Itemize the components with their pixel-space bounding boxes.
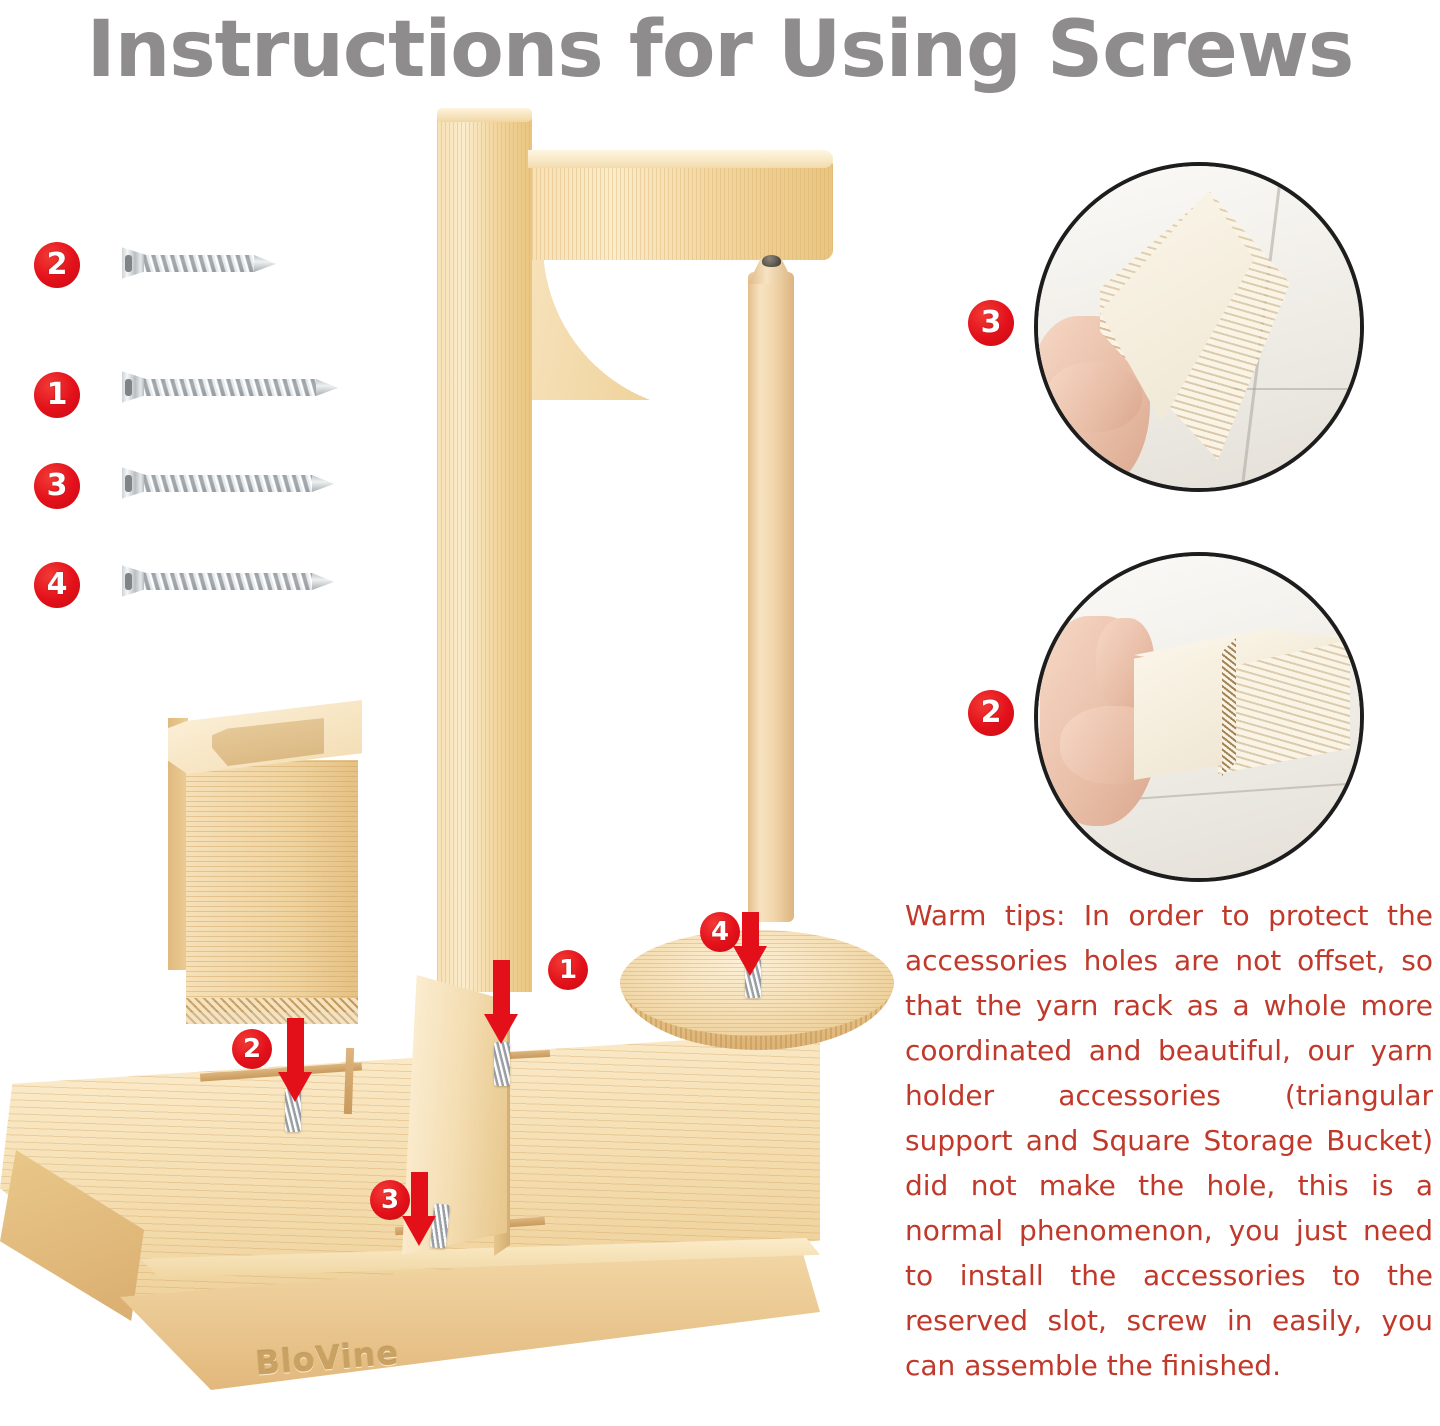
detail-badge-3: 3 [968, 300, 1014, 346]
screw-shank [144, 379, 316, 396]
instruction-sheet: Instructions for Using Screws 2 1 3 4 [0, 0, 1440, 1426]
screw-tip [254, 255, 276, 272]
marker-badge-4: 4 [700, 912, 740, 952]
screw-tip [312, 475, 334, 492]
curved-arm [528, 156, 833, 260]
square-storage-bucket-photo [1034, 552, 1364, 882]
square-storage-bucket [186, 760, 358, 1012]
screw-shank [144, 255, 254, 272]
screw-badge-3: 3 [34, 463, 80, 509]
screw-shank [144, 475, 312, 492]
post-top-face [437, 108, 532, 122]
screw-head [122, 370, 146, 404]
page-title: Instructions for Using Screws [0, 2, 1440, 98]
screw-icon-2 [122, 246, 276, 280]
arrow-stem [411, 1172, 428, 1220]
arrow-stem [493, 960, 510, 1018]
vertical-post [437, 112, 532, 992]
screw-tip [316, 379, 338, 396]
detail-badge-2: 2 [968, 690, 1014, 736]
post-screw [494, 1042, 510, 1086]
marker-badge-3: 3 [370, 1180, 410, 1220]
arrow-stem [742, 912, 759, 950]
arm-curved-brace [528, 240, 708, 400]
bucket-bottom-edge [186, 998, 358, 1024]
marker-badge-2: 2 [232, 1029, 272, 1069]
screw-head [122, 246, 146, 280]
screw-badge-1: 1 [34, 372, 80, 418]
screw-head [122, 564, 146, 598]
warm-tips-text: Warm tips: In order to protect the acces… [905, 893, 1433, 1388]
screw-icon-3 [122, 466, 334, 500]
screw-shank [144, 573, 312, 590]
screw-badge-4: 4 [34, 562, 80, 608]
triangular-support-photo [1034, 162, 1364, 492]
screw-icon-4 [122, 564, 334, 598]
thumb [1046, 362, 1142, 432]
screw-head [122, 466, 146, 500]
screw-icon-1 [122, 370, 338, 404]
screw-badge-2: 2 [34, 242, 80, 288]
arm-top-face [528, 150, 833, 168]
dowel-rod [748, 272, 794, 922]
screw-tip [312, 573, 334, 590]
arrow-stem [287, 1018, 304, 1076]
block-cut-edge [1222, 638, 1236, 776]
rod-metal-cap-icon [762, 255, 781, 267]
marker-badge-1: 1 [548, 950, 588, 990]
